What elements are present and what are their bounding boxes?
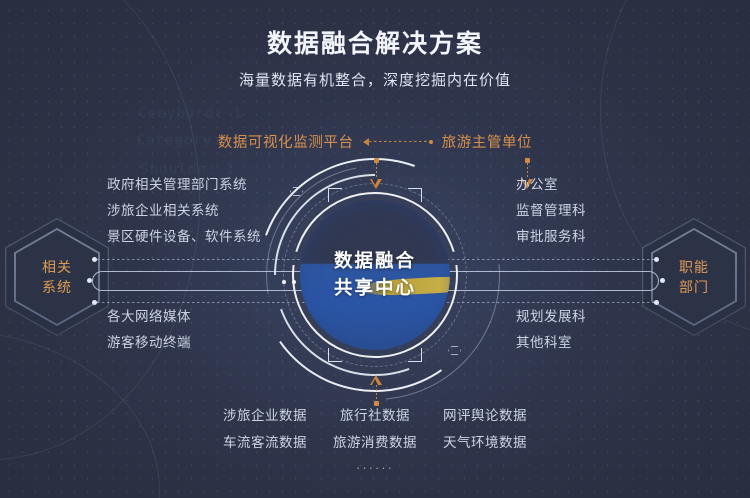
list-item: 各大网络媒体 — [107, 304, 191, 330]
hexagon-functional-departments: 职能 部门 — [651, 228, 737, 326]
triangle-up-icon — [370, 375, 382, 385]
grid-cell: 网评舆论数据 — [430, 402, 540, 429]
list-item: 监督管理科 — [516, 198, 586, 224]
list-item: 办公室 — [516, 172, 586, 198]
hexagon-right-line2: 部门 — [679, 279, 709, 295]
corner-bracket-icon — [328, 348, 342, 362]
right-column-bottom: 规划发展科 其他科室 — [516, 304, 586, 356]
connector-dot-icon — [92, 257, 97, 262]
left-column-top: 政府相关管理部门系统 涉旅企业相关系统 景区硬件设备、软件系统 — [107, 172, 261, 250]
grid-cell: 涉旅企业数据 — [210, 402, 320, 429]
bottom-data-grid: 涉旅企业数据 旅行社数据 网评舆论数据 车流客流数据 旅游消费数据 天气环境数据… — [0, 402, 750, 475]
core-label-line2: 共享中心 — [250, 275, 500, 302]
right-column-top: 办公室 监督管理科 审批服务科 — [516, 172, 586, 250]
connector-dot-icon — [92, 300, 97, 305]
list-item: 政府相关管理部门系统 — [107, 172, 261, 198]
left-column-bottom: 各大网络媒体 游客移动终端 — [107, 304, 191, 356]
list-item: 景区硬件设备、软件系统 — [107, 224, 261, 250]
connector-dot-icon — [660, 278, 665, 283]
hexagon-right-line1: 职能 — [679, 259, 709, 275]
corner-bracket-icon — [408, 348, 422, 362]
marker-top-center — [370, 158, 382, 189]
page-subtitle: 海量数据有机整合，深度挖掘内在价值 — [0, 69, 750, 90]
triangle-down-icon — [370, 179, 382, 189]
grid-cell: 天气环境数据 — [430, 429, 540, 456]
grid-cell: 旅游消费数据 — [320, 429, 430, 456]
marker-dotted-line — [376, 385, 377, 401]
grid-ellipsis: ······ — [356, 460, 394, 475]
list-item: 审批服务科 — [516, 224, 586, 250]
hexagon-related-systems: 相关 系统 — [14, 228, 100, 326]
marker-dotted-line — [376, 163, 377, 179]
list-item: 涉旅企业相关系统 — [107, 198, 261, 224]
corner-bracket-icon — [328, 188, 342, 202]
table-row: 涉旅企业数据 旅行社数据 网评舆论数据 — [210, 402, 540, 429]
list-item: 游客移动终端 — [107, 330, 191, 356]
hexagon-left-line1: 相关 — [42, 259, 72, 275]
core-label-line1: 数据融合 — [250, 248, 500, 275]
connector-dot-icon — [654, 257, 659, 262]
dashed-line — [369, 141, 429, 142]
core-label: 数据融合 共享中心 — [250, 248, 500, 302]
list-item: 规划发展科 — [516, 304, 586, 330]
endpoint-dot-icon — [429, 140, 433, 144]
corner-bracket-icon — [408, 188, 422, 202]
dashed-arrow-connector — [363, 138, 433, 146]
infographic-canvas: Ceeybord: 1 Category: ( Shouldn: 1 数据融合解… — [0, 0, 750, 498]
hexagon-left-line2: 系统 — [42, 279, 72, 295]
grid-cell: 车流客流数据 — [210, 429, 320, 456]
grid-cell: 旅行社数据 — [320, 402, 430, 429]
label-visualization-platform: 数据可视化监测平台 — [218, 131, 354, 152]
connector-dot-icon — [654, 300, 659, 305]
page-title: 数据融合解决方案 — [0, 24, 750, 60]
table-row: 车流客流数据 旅游消费数据 天气环境数据 — [210, 429, 540, 456]
list-item: 其他科室 — [516, 330, 586, 356]
label-tourism-authority: 旅游主管单位 — [442, 131, 533, 152]
